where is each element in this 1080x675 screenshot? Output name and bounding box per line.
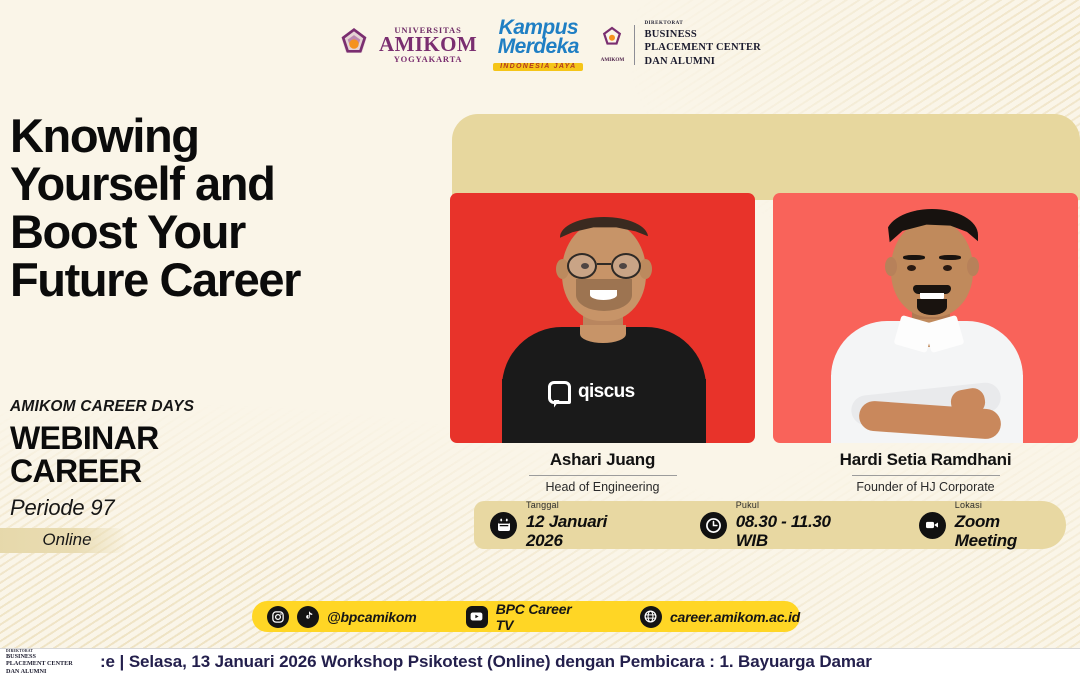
event-time-text: Pukul 08.30 - 11.30 WIB — [736, 500, 867, 549]
calendar-icon — [490, 512, 517, 539]
bpc-wordmark: DIREKTORAT BUSINESS PLACEMENT CENTER DAN… — [644, 21, 760, 68]
logo-universitas-amikom: UNIVERSITAS AMIKOM YOGYAKARTA — [336, 26, 477, 63]
event-title-line-1: WEBINAR — [10, 422, 270, 455]
event-title-line-2: CAREER — [10, 455, 270, 488]
bpc-seal: AMIKOM — [599, 26, 625, 63]
speakers-backdrop-panel — [452, 114, 1080, 200]
globe-glyph — [643, 609, 658, 624]
event-location-text: Lokasi Zoom Meeting — [955, 500, 1066, 549]
youtube-channel[interactable]: BPC Career TV — [496, 601, 591, 633]
bpc-divider — [634, 25, 635, 65]
poster-stage: UNIVERSITAS AMIKOM YOGYAKARTA Kampus Mer… — [0, 0, 1080, 648]
qiscus-logo: qiscus — [548, 379, 668, 405]
event-location-label: Lokasi — [955, 500, 1066, 510]
speaker-1-nameplate: Ashari Juang Head of Engineering — [450, 450, 755, 494]
event-date-text: Tanggal 12 Januari 2026 — [526, 500, 648, 549]
speaker-2-nameplate: Hardi Setia Ramdhani Founder of HJ Corpo… — [773, 450, 1078, 494]
speaker-1-role: Head of Engineering — [450, 480, 755, 494]
event-date-item: Tanggal 12 Januari 2026 — [490, 500, 648, 549]
poster-headline: Knowing Yourself and Boost Your Future C… — [10, 112, 410, 304]
portrait-eye-right — [943, 265, 952, 271]
portrait-ear-right — [967, 257, 979, 276]
qiscus-wordmark: qiscus — [578, 381, 635, 403]
bpc-line-2: PLACEMENT CENTER — [644, 41, 760, 54]
eyeglasses-icon — [567, 253, 641, 279]
event-time-value: 08.30 - 11.30 WIB — [736, 512, 867, 550]
social-handle[interactable]: @bpcamikom — [327, 609, 416, 625]
event-location-item: Lokasi Zoom Meeting — [919, 500, 1066, 549]
website-url[interactable]: career.amikom.ac.id — [670, 609, 800, 625]
event-mode-badge-label: Online — [24, 530, 91, 550]
speaker-photo-card-2 — [773, 193, 1078, 443]
video-camera-icon — [919, 512, 946, 539]
logo-kampus-merdeka: Kampus Merdeka INDONESIA JAYA — [493, 18, 583, 71]
event-location-value: Zoom Meeting — [955, 512, 1066, 550]
news-ticker-bar: DIREKTORAT BUSINESS PLACEMENT CENTER DAN… — [0, 648, 1080, 675]
event-time-item: Pukul 08.30 - 11.30 WIB — [700, 500, 867, 549]
youtube-icon[interactable] — [466, 606, 488, 628]
event-mode-badge: Online — [0, 528, 128, 553]
eyeglass-lens-right — [611, 253, 641, 279]
speaker-photo-card-1: qiscus — [450, 193, 755, 443]
speaker-1-name: Ashari Juang — [450, 450, 755, 470]
instagram-glyph — [271, 610, 285, 624]
eyeglass-bridge — [597, 263, 611, 265]
event-details-bar: Tanggal 12 Januari 2026 Pukul 08.30 - 11… — [474, 501, 1066, 549]
amikom-line-bottom: YOGYAKARTA — [379, 55, 477, 64]
portrait-eyebrow-left — [903, 255, 925, 260]
header-logo-row: UNIVERSITAS AMIKOM YOGYAKARTA Kampus Mer… — [336, 18, 761, 71]
logo-bpc-amikom: AMIKOM DIREKTORAT BUSINESS PLACEMENT CEN… — [599, 21, 760, 68]
amikom-wordmark: UNIVERSITAS AMIKOM YOGYAKARTA — [379, 26, 477, 63]
tiktok-icon[interactable] — [297, 606, 319, 628]
portrait-smile — [590, 290, 617, 300]
bpc-line-1: BUSINESS — [644, 28, 760, 41]
headline-line-1: Knowing — [10, 112, 410, 160]
portrait-eyebrow-right — [939, 255, 961, 260]
amikom-seal-icon — [599, 26, 625, 52]
bpc-line-3: DAN ALUMNI — [644, 55, 760, 68]
ticker-logo-line-1: BUSINESS — [6, 653, 92, 660]
eyeglass-lens-left — [567, 253, 597, 279]
youtube-glyph — [469, 609, 484, 624]
kampus-merdeka-line-2: Merdeka — [493, 37, 583, 56]
amikom-pinwheel-icon — [336, 27, 372, 63]
calendar-glyph — [496, 517, 512, 533]
event-date-label: Tanggal — [526, 500, 648, 510]
social-media-bar: @bpcamikom BPC Career TV career.amikom.a… — [252, 601, 800, 632]
nameplate-divider — [529, 475, 677, 476]
portrait-eye-left — [907, 265, 916, 271]
event-series-label: AMIKOM CAREER DAYS — [10, 398, 270, 416]
headline-line-2: Yourself and — [10, 160, 410, 208]
portrait-collar — [580, 325, 626, 343]
bpc-seal-text: AMIKOM — [599, 58, 625, 63]
ticker-logo-line-3: DAN ALUMNI — [6, 668, 92, 675]
tiktok-glyph — [302, 610, 315, 623]
video-camera-glyph — [924, 517, 940, 533]
kampus-merdeka-tagline: INDONESIA JAYA — [493, 63, 583, 71]
ticker-bpc-logo: DIREKTORAT BUSINESS PLACEMENT CENTER DAN… — [0, 649, 92, 675]
event-time-label: Pukul — [736, 500, 867, 510]
globe-icon[interactable] — [640, 606, 662, 628]
ticker-logo-line-2: PLACEMENT CENTER — [6, 660, 92, 667]
speaker-2-portrait — [773, 193, 1078, 443]
speaker-2-name: Hardi Setia Ramdhani — [773, 450, 1078, 470]
event-meta-block: AMIKOM CAREER DAYS WEBINAR CAREER Period… — [10, 398, 270, 553]
headline-line-3: Boost Your — [10, 208, 410, 256]
event-period: Periode 97 — [10, 495, 270, 521]
clock-icon — [700, 512, 727, 539]
speaker-1-portrait: qiscus — [450, 193, 755, 443]
speaker-2-role: Founder of HJ Corporate — [773, 480, 1078, 494]
portrait-goatee — [917, 299, 947, 315]
headline-line-4: Future Career — [10, 256, 410, 304]
portrait-ear-left — [885, 257, 897, 276]
clock-glyph — [705, 517, 722, 534]
amikom-line-mid: AMIKOM — [379, 35, 477, 55]
instagram-icon[interactable] — [267, 606, 289, 628]
qiscus-mark-icon — [548, 381, 571, 404]
event-date-value: 12 Januari 2026 — [526, 512, 648, 550]
nameplate-divider — [852, 475, 1000, 476]
ticker-message: :e | Selasa, 13 Januari 2026 Workshop Ps… — [92, 652, 1080, 672]
